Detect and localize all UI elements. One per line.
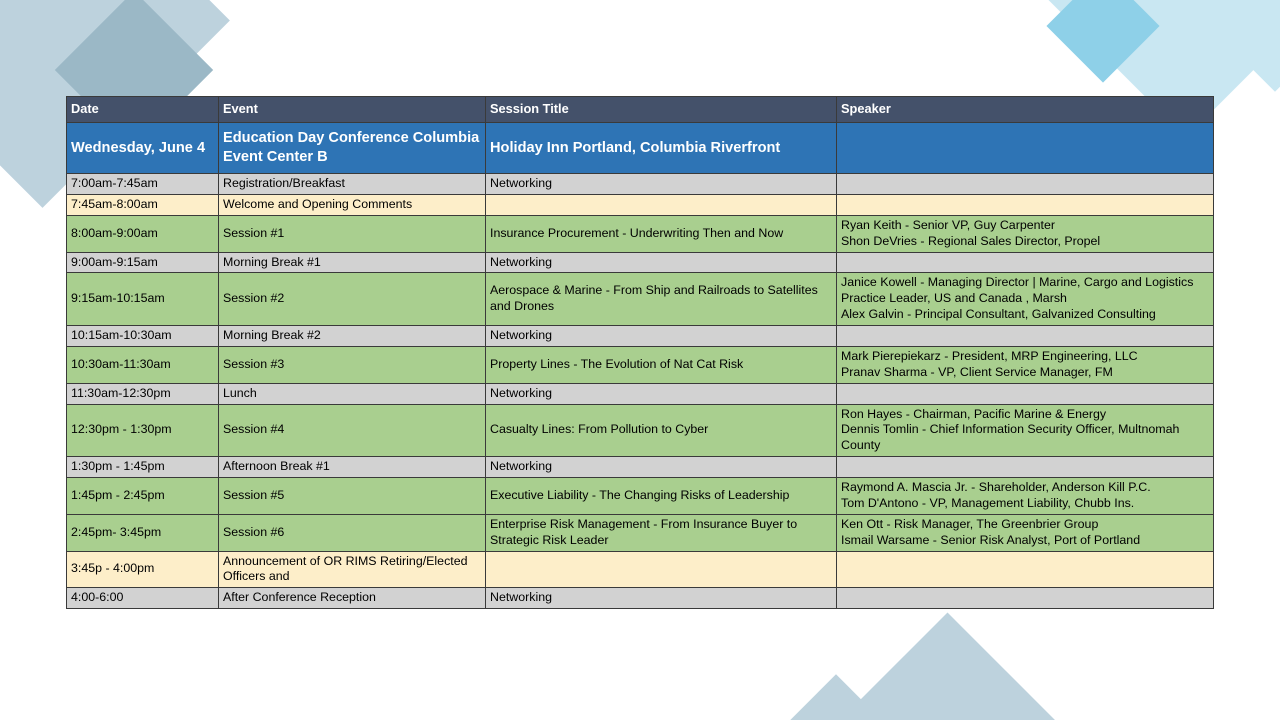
table-row: 9:15am-10:15amSession #2Aerospace & Mari… xyxy=(67,273,1214,326)
cell-date: 4:00-6:00 xyxy=(67,588,219,609)
cell-date: 7:00am-7:45am xyxy=(67,174,219,195)
cell-event: Session #6 xyxy=(219,514,486,551)
cell-date: 3:45p - 4:00pm xyxy=(67,551,219,588)
cell-session-title: Property Lines - The Evolution of Nat Ca… xyxy=(486,346,837,383)
decorative-diamond-top-right-small xyxy=(1046,0,1159,83)
decorative-diamond-bottom-right-large xyxy=(803,613,1093,720)
table-header-row: Date Event Session Title Speaker xyxy=(67,97,1214,123)
cell-session-title: Casualty Lines: From Pollution to Cyber xyxy=(486,404,837,457)
cell-session-title: Networking xyxy=(486,326,837,347)
column-header-session-title: Session Title xyxy=(486,97,837,123)
cell-event: Welcome and Opening Comments xyxy=(219,194,486,215)
table-row: 8:00am-9:00amSession #1Insurance Procure… xyxy=(67,215,1214,252)
cell-event: Lunch xyxy=(219,383,486,404)
cell-session-title: Networking xyxy=(486,252,837,273)
table-row: 1:30pm - 1:45pmAfternoon Break #1 Networ… xyxy=(67,457,1214,478)
table-row: 10:15am-10:30amMorning Break #2Networkin… xyxy=(67,326,1214,347)
cell-event: Session #3 xyxy=(219,346,486,383)
table-row: 4:00-6:00After Conference Reception Netw… xyxy=(67,588,1214,609)
table-row-event-title: Wednesday, June 4Education Day Conferenc… xyxy=(67,123,1214,174)
cell-event: Session #4 xyxy=(219,404,486,457)
table-row: 9:00am-9:15amMorning Break #1Networking xyxy=(67,252,1214,273)
cell-date: Wednesday, June 4 xyxy=(67,123,219,174)
conference-schedule-table: Date Event Session Title Speaker Wednesd… xyxy=(66,96,1214,609)
cell-speaker xyxy=(837,383,1214,404)
cell-event: Announcement of OR RIMS Retiring/Elected… xyxy=(219,551,486,588)
table-header: Date Event Session Title Speaker xyxy=(67,97,1214,123)
cell-speaker: Mark Pierepiekarz - President, MRP Engin… xyxy=(837,346,1214,383)
cell-session-title: Holiday Inn Portland, Columbia Riverfron… xyxy=(486,123,837,174)
table-row: 10:30am-11:30amSession #3Property Lines … xyxy=(67,346,1214,383)
table-row: 11:30am-12:30pmLunch Networking xyxy=(67,383,1214,404)
cell-session-title xyxy=(486,194,837,215)
cell-session-title xyxy=(486,551,837,588)
cell-date: 10:30am-11:30am xyxy=(67,346,219,383)
cell-session-title: Executive Liability - The Changing Risks… xyxy=(486,478,837,515)
slide-canvas: Date Event Session Title Speaker Wednesd… xyxy=(0,0,1280,720)
decorative-diamond-bottom-right-small xyxy=(765,674,906,720)
cell-date: 10:15am-10:30am xyxy=(67,326,219,347)
cell-event: Education Day Conference Columbia Event … xyxy=(219,123,486,174)
cell-event: Morning Break #1 xyxy=(219,252,486,273)
cell-speaker xyxy=(837,326,1214,347)
cell-speaker xyxy=(837,123,1214,174)
cell-session-title: Networking xyxy=(486,174,837,195)
table-row: 12:30pm - 1:30pmSession #4Casualty Lines… xyxy=(67,404,1214,457)
decorative-diamond-top-right-mid xyxy=(1098,0,1280,92)
cell-session-title: Insurance Procurement - Underwriting The… xyxy=(486,215,837,252)
cell-event: Registration/Breakfast xyxy=(219,174,486,195)
cell-speaker xyxy=(837,551,1214,588)
cell-event: Session #1 xyxy=(219,215,486,252)
cell-speaker: Raymond A. Mascia Jr. - Shareholder, And… xyxy=(837,478,1214,515)
cell-session-title: Networking xyxy=(486,383,837,404)
cell-speaker xyxy=(837,457,1214,478)
cell-speaker: Ron Hayes - Chairman, Pacific Marine & E… xyxy=(837,404,1214,457)
table-body: Wednesday, June 4Education Day Conferenc… xyxy=(67,123,1214,609)
column-header-event: Event xyxy=(219,97,486,123)
cell-session-title: Networking xyxy=(486,588,837,609)
cell-event: Session #2 xyxy=(219,273,486,326)
cell-event: Session #5 xyxy=(219,478,486,515)
cell-date: 1:30pm - 1:45pm xyxy=(67,457,219,478)
cell-date: 8:00am-9:00am xyxy=(67,215,219,252)
cell-date: 9:15am-10:15am xyxy=(67,273,219,326)
cell-event: Morning Break #2 xyxy=(219,326,486,347)
cell-event: Afternoon Break #1 xyxy=(219,457,486,478)
cell-date: 12:30pm - 1:30pm xyxy=(67,404,219,457)
cell-session-title: Aerospace & Marine - From Ship and Railr… xyxy=(486,273,837,326)
table-row: 7:45am-8:00amWelcome and Opening Comment… xyxy=(67,194,1214,215)
cell-date: 2:45pm- 3:45pm xyxy=(67,514,219,551)
column-header-date: Date xyxy=(67,97,219,123)
table-row: 3:45p - 4:00pmAnnouncement of OR RIMS Re… xyxy=(67,551,1214,588)
cell-speaker xyxy=(837,174,1214,195)
cell-session-title: Enterprise Risk Management - From Insura… xyxy=(486,514,837,551)
cell-speaker: Ryan Keith - Senior VP, Guy Carpenter Sh… xyxy=(837,215,1214,252)
cell-date: 7:45am-8:00am xyxy=(67,194,219,215)
cell-speaker xyxy=(837,194,1214,215)
cell-speaker xyxy=(837,252,1214,273)
table-row: 7:00am-7:45amRegistration/BreakfastNetwo… xyxy=(67,174,1214,195)
cell-date: 9:00am-9:15am xyxy=(67,252,219,273)
table-row: 1:45pm - 2:45pmSession #5Executive Liabi… xyxy=(67,478,1214,515)
cell-date: 11:30am-12:30pm xyxy=(67,383,219,404)
cell-speaker: Ken Ott - Risk Manager, The Greenbrier G… xyxy=(837,514,1214,551)
cell-event: After Conference Reception xyxy=(219,588,486,609)
cell-speaker xyxy=(837,588,1214,609)
cell-date: 1:45pm - 2:45pm xyxy=(67,478,219,515)
cell-speaker: Janice Kowell - Managing Director | Mari… xyxy=(837,273,1214,326)
column-header-speaker: Speaker xyxy=(837,97,1214,123)
table-row: 2:45pm- 3:45pmSession #6Enterprise Risk … xyxy=(67,514,1214,551)
cell-session-title: Networking xyxy=(486,457,837,478)
